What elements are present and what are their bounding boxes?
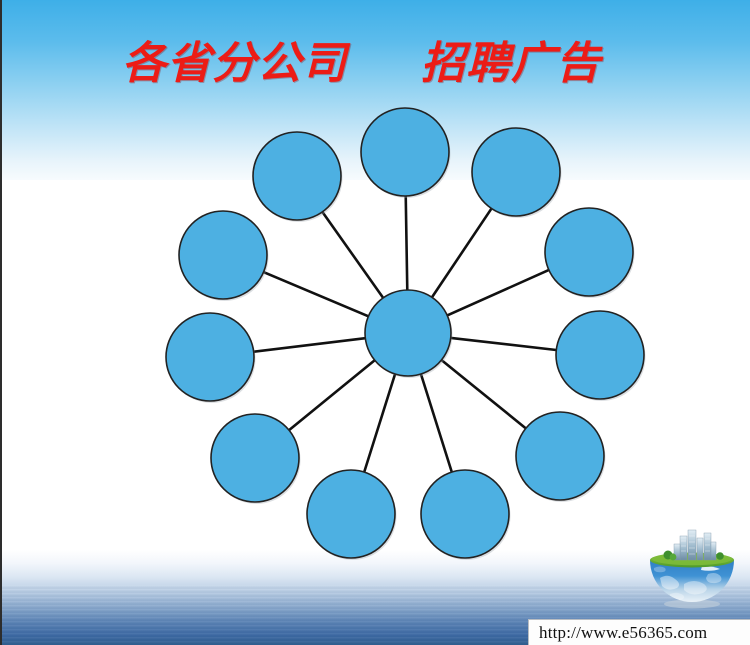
diagram-node-5[interactable] <box>421 470 511 560</box>
diagram-node-6[interactable] <box>307 470 397 560</box>
diagram-node-1[interactable] <box>472 128 562 218</box>
city-skyline <box>674 530 716 560</box>
diagram-node-8[interactable] <box>166 313 256 403</box>
globe-city-logo <box>640 528 744 610</box>
node-circle-layer <box>166 108 646 560</box>
hub-and-spoke-diagram <box>0 0 750 645</box>
spoke-line-8 <box>253 338 367 352</box>
screenshot-root: 各省分公司 招聘广告 <box>0 0 750 645</box>
diagram-node-0[interactable] <box>361 108 451 198</box>
diagram-node-2[interactable] <box>545 208 635 298</box>
diagram-node-9[interactable] <box>179 211 269 301</box>
diagram-node-7[interactable] <box>211 414 301 504</box>
spoke-line-2 <box>446 270 549 316</box>
spoke-line-5 <box>421 373 452 473</box>
spoke-line-4 <box>441 359 527 429</box>
diagram-node-3[interactable] <box>556 311 646 401</box>
watermark-url-text: http://www.e56365.com <box>539 623 707 643</box>
spoke-line-1 <box>431 208 492 298</box>
watermark-url-bar: http://www.e56365.com <box>528 619 750 645</box>
spoke-line-7 <box>288 360 375 431</box>
spoke-line-6 <box>364 373 395 473</box>
diagram-node-10[interactable] <box>253 132 343 222</box>
spoke-line-3 <box>450 338 558 350</box>
diagram-node-4[interactable] <box>516 412 606 502</box>
spoke-line-9 <box>263 272 370 317</box>
spoke-line-10 <box>322 211 384 299</box>
diagram-center-node[interactable] <box>365 290 453 378</box>
globe-city-logo-icon <box>640 528 744 610</box>
spoke-line-0 <box>406 195 408 291</box>
